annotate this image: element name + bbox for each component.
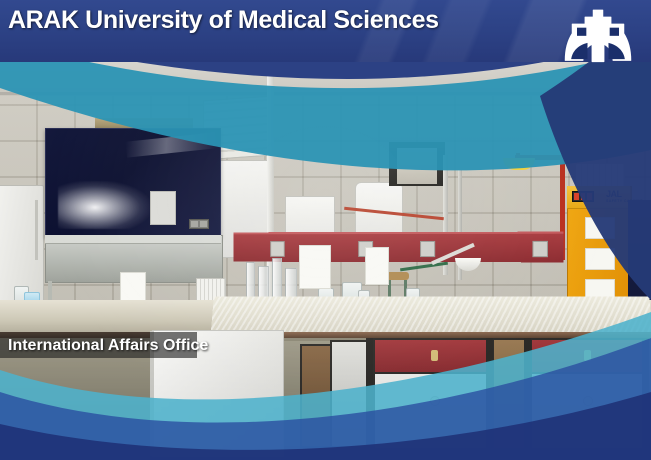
university-banner: JAL SAFETY CABINET <box>0 0 651 460</box>
caption-label: International Affairs Office <box>8 336 208 355</box>
decorative-curve-frame <box>0 0 651 460</box>
page-title: ARAK University of Medical Sciences <box>8 7 439 35</box>
arak-university-emblem-icon <box>563 6 633 68</box>
university-logo <box>563 6 633 68</box>
